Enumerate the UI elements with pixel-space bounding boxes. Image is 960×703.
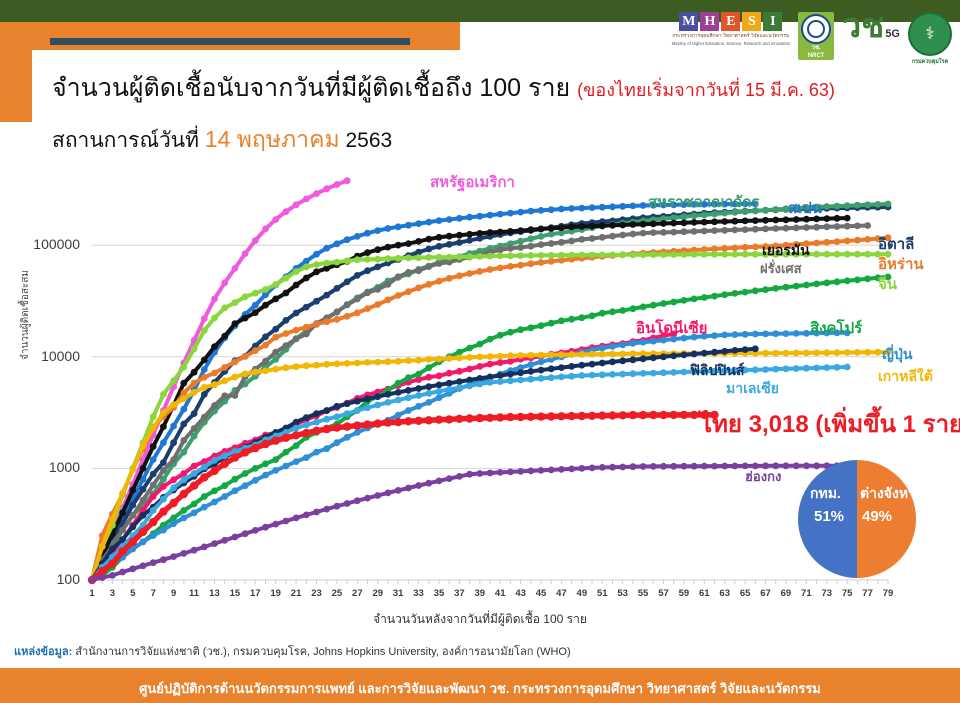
data-point: [211, 315, 218, 322]
data-point: [232, 320, 239, 327]
data-point: [293, 442, 300, 449]
data-point: [578, 362, 585, 369]
data-point: [507, 228, 514, 235]
data-point: [670, 369, 677, 376]
data-point: [283, 330, 290, 337]
mhesi-thai-caption: กระทรวงการอุดมศึกษา วิทยาศาสตร์ วิจัยและ…: [672, 33, 789, 40]
data-point: [395, 358, 402, 365]
x-axis-tick-label: 25: [329, 588, 345, 599]
data-point: [732, 227, 739, 234]
data-point: [344, 236, 351, 243]
data-point: [374, 359, 381, 366]
data-point: [334, 240, 341, 247]
data-point: [303, 454, 310, 461]
x-axis-tick-label: 5: [125, 588, 141, 599]
data-point: [721, 227, 728, 234]
data-point: [548, 240, 555, 247]
data-point: [619, 307, 626, 314]
data-point: [742, 244, 749, 251]
data-point: [772, 285, 779, 292]
data-point: [813, 251, 820, 258]
data-point: [170, 456, 177, 463]
data-point: [211, 381, 218, 388]
data-point: [395, 255, 402, 262]
mhesi-english-caption: Ministry of Higher Education, Science, R…: [672, 41, 790, 46]
data-point: [588, 412, 596, 420]
data-point: [425, 254, 432, 261]
data-point: [466, 231, 473, 238]
data-point: [874, 349, 881, 356]
data-point: [436, 394, 443, 401]
wo-5g-label: 5G: [885, 28, 900, 40]
data-point: [415, 357, 422, 364]
data-point: [691, 219, 698, 226]
data-point: [640, 221, 647, 228]
orange-accent-vertical: [0, 22, 32, 122]
data-point: [650, 354, 657, 361]
data-point: [374, 301, 381, 308]
data-point: [169, 499, 177, 507]
data-point: [283, 364, 290, 371]
data-point: [150, 507, 157, 514]
data-point: [762, 207, 769, 214]
x-axis-tick-label: 65: [737, 588, 753, 599]
data-point: [497, 378, 504, 385]
data-point: [691, 296, 698, 303]
data-point: [681, 369, 688, 376]
data-point: [333, 423, 341, 431]
data-point: [803, 365, 810, 372]
x-axis-tick-label: 17: [247, 588, 263, 599]
data-point: [211, 540, 218, 547]
data-point: [681, 228, 688, 235]
x-axis-tick-label: 75: [839, 588, 855, 599]
data-point: [272, 334, 279, 341]
data-point: [303, 275, 310, 282]
data-point: [334, 413, 341, 420]
data-point: [405, 387, 412, 394]
data-point: [252, 290, 259, 297]
data-point: [343, 422, 351, 430]
series-5: [89, 222, 871, 583]
data-point: [201, 374, 208, 381]
data-point: [303, 512, 310, 519]
data-point: [261, 440, 269, 448]
data-point: [548, 351, 555, 358]
data-point: [221, 452, 228, 459]
data-point: [313, 449, 320, 456]
data-point: [752, 331, 759, 338]
data-point: [221, 333, 228, 340]
data-point: [864, 251, 871, 258]
data-point: [589, 312, 596, 319]
data-point: [660, 300, 667, 307]
data-point: [303, 414, 310, 421]
data-point: [252, 369, 259, 376]
data-point: [405, 357, 412, 364]
data-point: [323, 318, 330, 325]
data-point: [252, 527, 259, 534]
data-point: [721, 348, 728, 355]
data-point: [527, 361, 534, 368]
data-point: [344, 177, 351, 184]
data-point: [242, 530, 249, 537]
data-point: [149, 518, 157, 526]
data-point: [425, 281, 432, 288]
data-point: [313, 362, 320, 369]
data-point: [252, 465, 259, 472]
data-point: [242, 482, 249, 489]
y-axis-title: จำนวนผู้ติดเชื้อสะสม: [18, 270, 32, 360]
data-point: [364, 256, 371, 263]
data-point: [466, 237, 473, 244]
data-point: [619, 351, 626, 358]
data-point: [854, 202, 861, 209]
data-point: [232, 392, 239, 399]
data-point: [384, 418, 392, 426]
data-point: [140, 442, 147, 449]
y-axis-tick-label: 1000: [8, 459, 80, 475]
data-point: [455, 415, 463, 423]
data-point: [517, 244, 524, 251]
data-point: [629, 411, 637, 419]
data-point: [803, 462, 810, 469]
data-point: [415, 284, 422, 291]
data-point: [425, 416, 433, 424]
data-point: [323, 185, 330, 192]
data-point: [834, 364, 841, 371]
data-point: [446, 216, 453, 223]
data-point: [516, 413, 524, 421]
data-point: [589, 465, 596, 472]
data-point: [313, 419, 320, 426]
data-point: [98, 567, 106, 575]
data-point: [578, 372, 585, 379]
data-point: [334, 316, 341, 323]
data-point: [272, 349, 279, 356]
data-point: [150, 532, 157, 539]
data-point: [232, 374, 239, 381]
data-point: [619, 357, 626, 364]
x-axis-tick-label: 33: [411, 588, 427, 599]
data-point: [670, 463, 677, 470]
data-point: [456, 272, 463, 279]
data-point: [364, 359, 371, 366]
data-point: [578, 412, 586, 420]
data-point: [262, 333, 269, 340]
data-point: [334, 403, 341, 410]
series-label-13: มาเลเซีย: [726, 378, 779, 400]
data-point: [844, 202, 851, 209]
data-point: [487, 266, 494, 273]
series-line: [92, 226, 868, 581]
data-point: [242, 250, 249, 257]
data-point: [864, 222, 871, 229]
data-point: [517, 377, 524, 384]
data-point: [803, 350, 810, 357]
data-point: [752, 366, 759, 373]
data-point: [160, 483, 167, 490]
mhesi-letter-m: M: [679, 12, 698, 31]
data-point: [374, 419, 382, 427]
data-point: [344, 313, 351, 320]
data-point: [344, 500, 351, 507]
data-point: [742, 346, 749, 353]
data-point: [578, 205, 585, 212]
data-point: [548, 206, 555, 213]
data-point: [864, 201, 871, 208]
data-point: [660, 369, 667, 376]
data-point: [364, 305, 371, 312]
data-point: [415, 220, 422, 227]
data-point: [497, 247, 504, 254]
x-axis-tick-label: 71: [798, 588, 814, 599]
data-point: [354, 360, 361, 367]
data-point: [609, 359, 616, 366]
data-point: [180, 395, 187, 402]
data-point: [293, 515, 300, 522]
data-point: [252, 302, 259, 309]
data-point: [487, 336, 494, 343]
series-label-7: จีน: [878, 272, 897, 296]
data-point: [558, 252, 565, 259]
series-14: [88, 411, 719, 584]
data-point: [660, 463, 667, 470]
data-point: [272, 456, 279, 463]
data-point: [783, 225, 790, 232]
data-point: [272, 467, 279, 474]
pie-label-provinces: ต่างจังหวัด: [860, 483, 925, 505]
data-point: [313, 298, 320, 305]
data-point: [283, 342, 290, 349]
data-point: [660, 229, 667, 236]
data-point: [374, 246, 381, 253]
data-point: [844, 238, 851, 245]
data-point: [119, 490, 126, 497]
data-point: [385, 391, 392, 398]
data-point: [293, 363, 300, 370]
page-title-note: (ของไทยเริ่มจากวันที่ 15 มี.ค. 63): [577, 80, 835, 100]
data-point: [762, 217, 769, 224]
pie-label-bangkok: กทม.: [810, 483, 841, 505]
data-point: [303, 362, 310, 369]
data-point: [517, 369, 524, 376]
data-point: [201, 493, 208, 500]
data-point: [150, 425, 157, 432]
data-point: [497, 372, 504, 379]
data-point: [415, 254, 422, 261]
data-point: [640, 304, 647, 311]
data-point: [425, 246, 432, 253]
data-point: [354, 256, 361, 263]
data-point: [221, 364, 228, 371]
data-point: [354, 429, 361, 436]
x-axis-tick-label: 69: [778, 588, 794, 599]
data-point: [650, 463, 657, 470]
data-point: [415, 267, 422, 274]
data-point: [854, 349, 861, 356]
data-point: [548, 225, 555, 232]
data-point: [793, 225, 800, 232]
data-point: [834, 223, 841, 230]
data-point: [476, 381, 483, 388]
data-point: [742, 218, 749, 225]
data-point: [445, 415, 453, 423]
data-point: [578, 236, 585, 243]
data-point: [589, 361, 596, 368]
data-point: [201, 504, 208, 511]
x-axis-tick-label: 35: [431, 588, 447, 599]
data-point: [160, 391, 167, 398]
data-point: [711, 218, 718, 225]
data-point: [303, 331, 310, 338]
data-point: [323, 445, 330, 452]
data-point: [425, 374, 432, 381]
data-point: [497, 469, 504, 476]
data-point: [732, 251, 739, 258]
data-point: [283, 449, 290, 456]
data-point: [385, 225, 392, 232]
data-point: [344, 360, 351, 367]
title-underline-rule: [50, 38, 410, 45]
data-point: [568, 252, 575, 259]
data-point: [568, 466, 575, 473]
data-point: [608, 411, 616, 419]
data-point: [568, 224, 575, 231]
data-point: [609, 203, 616, 210]
data-point: [374, 492, 381, 499]
data-point: [487, 253, 494, 260]
data-point: [170, 553, 177, 560]
data-point: [221, 537, 228, 544]
data-point: [619, 371, 626, 378]
data-point: [864, 236, 871, 243]
data-point: [436, 478, 443, 485]
data-point: [619, 232, 626, 239]
data-point: [711, 293, 718, 300]
data-point: [221, 460, 229, 468]
x-axis-tick-label: 45: [533, 588, 549, 599]
mhesi-letter-s: S: [742, 12, 761, 31]
data-point: [354, 398, 361, 405]
data-point: [527, 226, 534, 233]
data-point: [609, 371, 616, 378]
data-point: [446, 386, 453, 393]
data-point: [538, 467, 545, 474]
x-axis-tick-label: 49: [574, 588, 590, 599]
data-point: [476, 230, 483, 237]
x-axis-tick-label: 77: [860, 588, 876, 599]
data-point: [844, 223, 851, 230]
x-axis-tick-label: 67: [758, 588, 774, 599]
data-point: [527, 468, 534, 475]
data-point: [732, 245, 739, 252]
data-point: [293, 282, 300, 289]
data-point: [283, 275, 290, 282]
data-point: [262, 358, 269, 365]
data-point: [476, 341, 483, 348]
data-point: [334, 259, 341, 266]
data-point: [762, 331, 769, 338]
data-point: [293, 310, 300, 317]
data-point: [374, 402, 381, 409]
data-point: [303, 258, 310, 265]
data-point: [517, 468, 524, 475]
data-point: [721, 291, 728, 298]
data-point: [844, 364, 851, 371]
data-point: [99, 574, 106, 581]
data-point: [191, 501, 198, 508]
data-point: [313, 410, 320, 417]
data-point: [436, 356, 443, 363]
data-point: [282, 434, 290, 442]
data-point: [303, 324, 310, 331]
data-point: [283, 317, 290, 324]
pie-value-provinces: 49%: [862, 508, 892, 525]
data-point: [251, 444, 259, 452]
data-point: [129, 512, 136, 519]
data-point: [201, 544, 208, 551]
data-point: [242, 315, 249, 322]
x-axis-tick-label: 39: [472, 588, 488, 599]
data-point: [211, 402, 218, 409]
data-point: [568, 373, 575, 380]
data-point: [129, 466, 136, 473]
data-point: [262, 286, 269, 293]
data-point: [415, 371, 422, 378]
data-point: [201, 357, 208, 364]
nrct-abbr-th: วช.: [812, 45, 821, 52]
data-point: [465, 414, 473, 422]
data-point: [589, 235, 596, 242]
wo-glyph: วช: [842, 12, 884, 42]
data-point: [344, 302, 351, 309]
data-point: [404, 417, 412, 425]
data-point: [558, 239, 565, 246]
data-point: [129, 523, 136, 530]
data-point: [497, 353, 504, 360]
data-point: [262, 302, 269, 309]
data-point: [630, 231, 637, 238]
data-point: [752, 226, 759, 233]
data-point: [272, 281, 279, 288]
data-point: [599, 204, 606, 211]
data-point: [630, 305, 637, 312]
data-point: [834, 349, 841, 356]
data-point: [517, 238, 524, 245]
data-point: [395, 242, 402, 249]
data-point: [527, 252, 534, 259]
data-point: [374, 286, 381, 293]
data-point: [353, 421, 361, 429]
data-point: [813, 462, 820, 469]
data-point: [109, 546, 116, 553]
data-point: [762, 366, 769, 373]
data-point: [201, 315, 208, 322]
data-point: [415, 403, 422, 410]
data-point: [793, 350, 800, 357]
data-point: [517, 352, 524, 359]
data-point: [446, 275, 453, 282]
x-axis-tick-label: 1: [84, 588, 100, 599]
data-point: [721, 251, 728, 258]
data-point: [476, 414, 484, 422]
x-axis-tick-label: 23: [309, 588, 325, 599]
data-point: [507, 371, 514, 378]
data-point: [405, 222, 412, 229]
data-point: [425, 383, 432, 390]
data-point: [659, 411, 667, 419]
